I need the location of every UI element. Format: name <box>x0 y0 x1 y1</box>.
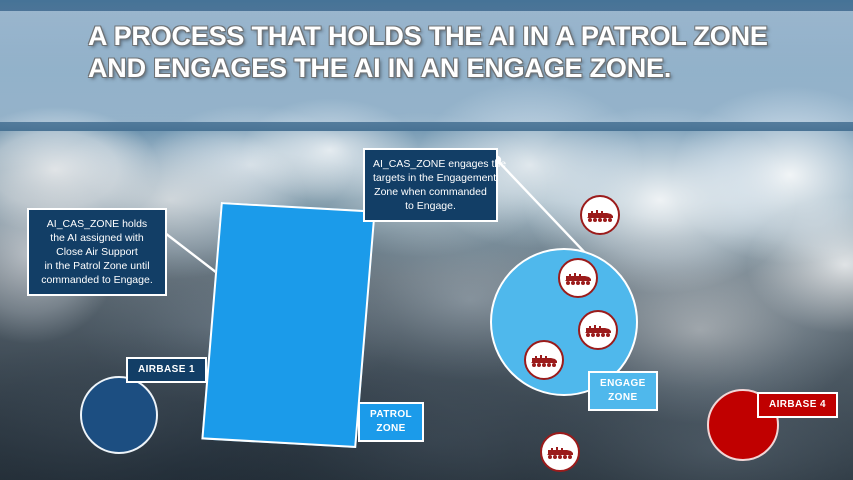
patrol-zone-shape[interactable] <box>201 202 375 448</box>
callout-line: Zone when commanded <box>373 185 488 199</box>
ground-vehicle-target-icon[interactable] <box>578 310 618 350</box>
label-airbase-1[interactable]: AIRBASE 1 <box>126 357 207 383</box>
slide-canvas: A PROCESS THAT HOLDS THE AI IN A PATROL … <box>0 0 853 480</box>
ground-vehicle-glyph <box>529 352 559 369</box>
callout-engage-zone[interactable]: AI_CAS_ZONE engages the targets in the E… <box>363 148 498 222</box>
ground-vehicle-glyph <box>545 444 575 461</box>
callout-line: the AI assigned with <box>37 231 157 245</box>
ground-vehicle-target-icon[interactable] <box>540 432 580 472</box>
callout-line: to Engage. <box>373 199 488 213</box>
ground-vehicle-target-icon[interactable] <box>524 340 564 380</box>
label-text: ZONE <box>370 422 412 436</box>
page-title: A PROCESS THAT HOLDS THE AI IN A PATROL … <box>88 20 788 84</box>
title-banner: A PROCESS THAT HOLDS THE AI IN A PATROL … <box>0 0 853 131</box>
label-text: AIRBASE 4 <box>769 398 826 412</box>
callout-line: AI_CAS_ZONE holds <box>37 217 157 231</box>
label-text: AIRBASE 1 <box>138 363 195 377</box>
callout-line: Close Air Support <box>37 245 157 259</box>
callout-patrol-zone[interactable]: AI_CAS_ZONE holds the AI assigned with C… <box>27 208 167 296</box>
ground-vehicle-target-icon[interactable] <box>580 195 620 235</box>
label-patrol-zone[interactable]: PATROL ZONE <box>358 402 424 442</box>
callout-line: in the Patrol Zone until <box>37 259 157 273</box>
callout-line: targets in the Engagement <box>373 171 488 185</box>
label-engage-zone[interactable]: ENGAGE ZONE <box>588 371 658 411</box>
airbase-1-shape[interactable] <box>80 376 158 454</box>
ground-vehicle-glyph <box>583 322 613 339</box>
callout-line: AI_CAS_ZONE engages the <box>373 157 488 171</box>
label-text: PATROL <box>370 408 412 422</box>
title-banner-bottom-strip <box>0 122 853 131</box>
ground-vehicle-glyph <box>563 270 593 287</box>
callout-line: commanded to Engage. <box>37 273 157 287</box>
ground-vehicle-target-icon[interactable] <box>558 258 598 298</box>
label-text: ENGAGE <box>600 377 646 391</box>
label-airbase-4[interactable]: AIRBASE 4 <box>757 392 838 418</box>
label-text: ZONE <box>600 391 646 405</box>
title-banner-top-strip <box>0 0 853 11</box>
ground-vehicle-glyph <box>585 207 615 224</box>
